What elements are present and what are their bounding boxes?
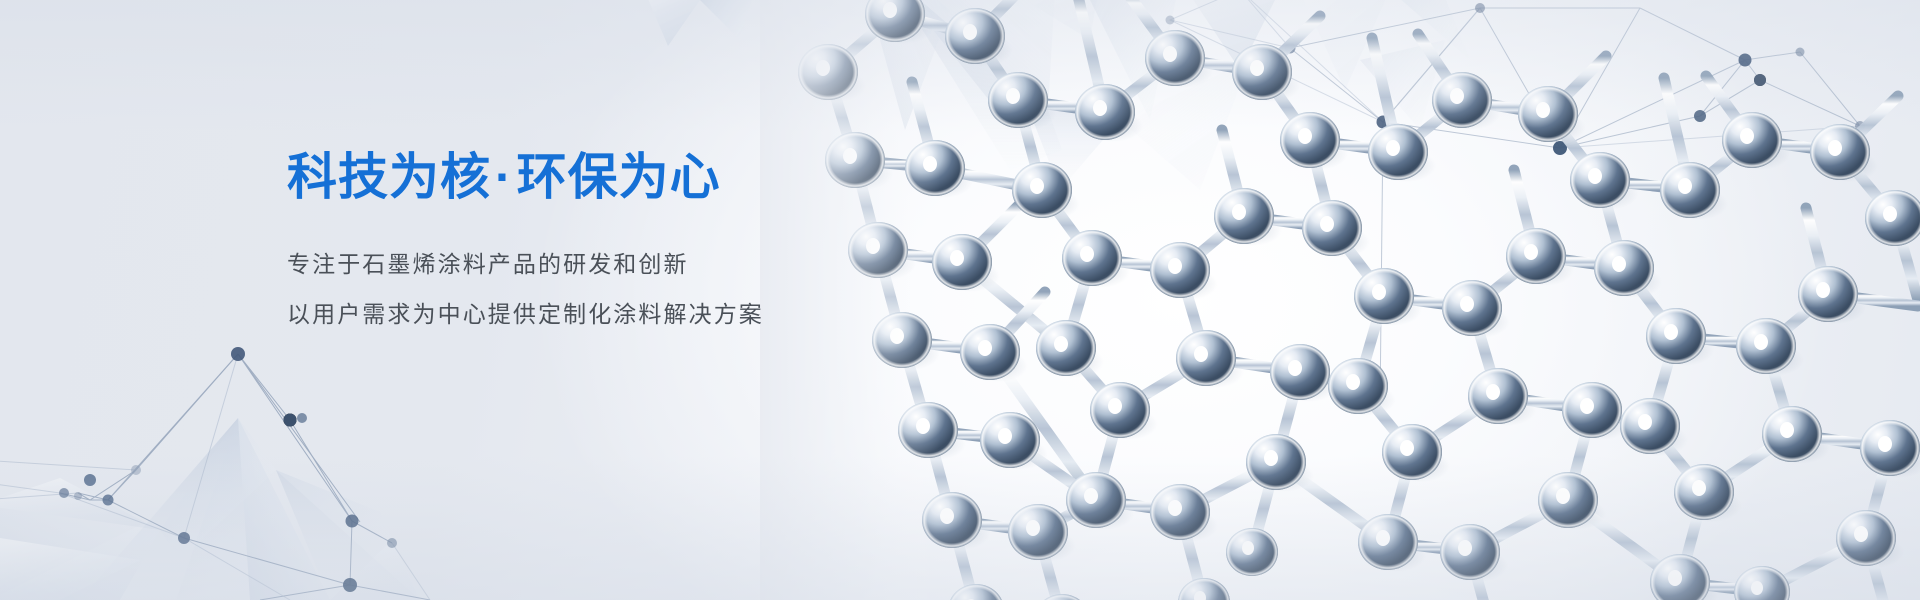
banner-headline: 科技为核·环保为心 [287,150,927,205]
lattice-group [798,0,1920,600]
hero-banner: 科技为核·环保为心 专注于石墨烯涂料产品的研发和创新 以用户需求为中心提供定制化… [0,0,1920,600]
banner-subtitles: 专注于石墨烯涂料产品的研发和创新 以用户需求为中心提供定制化涂料解决方案 [287,247,927,332]
headline-part-1: 科技为核 [287,149,491,205]
headline-part-2: 环保为心 [517,149,721,205]
headline-separator: · [491,150,517,205]
banner-subtitle-2: 以用户需求为中心提供定制化涂料解决方案 [287,297,927,333]
banner-subtitle-1: 专注于石墨烯涂料产品的研发和创新 [287,247,927,283]
lattice-nodes [798,0,1920,600]
banner-copy: 科技为核·环保为心 专注于石墨烯涂料产品的研发和创新 以用户需求为中心提供定制化… [287,150,927,332]
